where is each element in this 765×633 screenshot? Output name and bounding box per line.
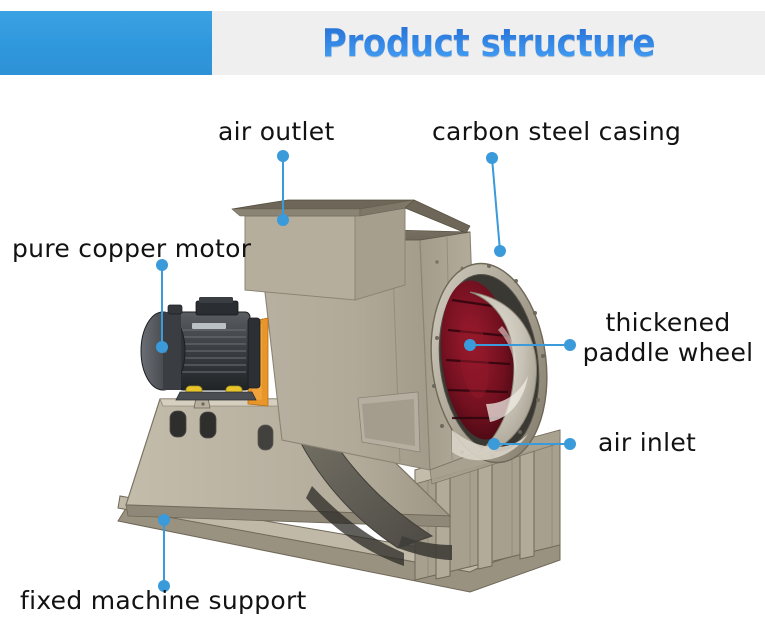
dot-air-outlet-target — [277, 214, 289, 226]
callout-air-outlet: air outlet — [218, 117, 335, 147]
dot-pure-copper-motor-target — [156, 341, 168, 353]
dot-air-inlet-target — [488, 438, 500, 450]
dot-fixed-support-target — [158, 514, 170, 526]
callout-paddle-wheel-line1: thickened — [605, 308, 730, 337]
callout-carbon-steel-casing: carbon steel casing — [432, 117, 681, 147]
dot-carbon-steel-casing-target — [494, 245, 506, 257]
dot-air-inlet-label — [564, 438, 576, 450]
callout-pure-copper-motor: pure copper motor — [12, 234, 251, 264]
dot-carbon-steel-casing-label — [486, 152, 498, 164]
dot-paddle-wheel-target — [464, 339, 476, 351]
leader-carbon-steel-casing — [492, 158, 500, 251]
dot-air-outlet-label — [277, 150, 289, 162]
callout-fixed-machine-support: fixed machine support — [20, 586, 307, 616]
callout-paddle-wheel-line2: paddle wheel — [583, 338, 754, 367]
product-structure-figure: Product structure Product structure — [0, 0, 765, 633]
dot-paddle-wheel-label — [564, 339, 576, 351]
callout-air-inlet: air inlet — [598, 428, 696, 458]
